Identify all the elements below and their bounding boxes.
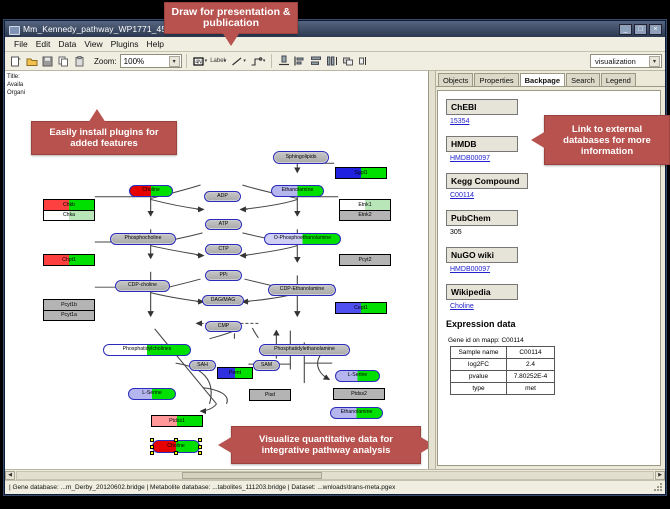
svg-text:4N: 4N bbox=[195, 59, 202, 65]
gene-label: Pisd bbox=[250, 390, 290, 400]
metabolite-label: O-Phosphoethanolamine bbox=[274, 236, 331, 241]
hscroll-track[interactable] bbox=[16, 471, 654, 480]
metabolite-node[interactable]: Ethanolamine bbox=[271, 185, 324, 197]
tab-backpage[interactable]: Backpage bbox=[520, 73, 565, 86]
gene-label: Pcyt1a bbox=[44, 311, 94, 321]
expression-data-heading: Expression data bbox=[446, 319, 660, 329]
callout-visualize-text: Visualize quantitative data for integrat… bbox=[238, 434, 414, 456]
metabolite-label: Ethanolamine bbox=[282, 188, 314, 193]
scroll-left-icon[interactable]: ◀ bbox=[5, 471, 15, 480]
wikipedia-link[interactable]: Choline bbox=[450, 303, 474, 310]
nugo-link[interactable]: HMDB00097 bbox=[450, 266, 490, 273]
metabolite-node[interactable]: CTP bbox=[205, 244, 242, 255]
gene-label: Ptdss2 bbox=[334, 389, 384, 399]
callout-plugins: Easily install plugins for added feature… bbox=[31, 121, 177, 155]
backpage-heading-nugo: NuGO wiki bbox=[446, 247, 518, 263]
expression-data-table: Sample name C00114 log2FC 2.4 pvalue 7.8… bbox=[450, 346, 555, 395]
canvas-vertical-scrollbar[interactable] bbox=[429, 71, 436, 469]
metabolite-node[interactable]: ADP bbox=[204, 191, 241, 202]
metabolite-node[interactable]: SAM bbox=[253, 360, 280, 371]
gene-product-node[interactable]: Chpt1 bbox=[43, 254, 95, 266]
chebi-link[interactable]: 15354 bbox=[450, 118, 469, 125]
zoom-combobox[interactable]: 100% ▾ bbox=[120, 54, 182, 68]
backpage-heading-pubchem: PubChem bbox=[446, 210, 518, 226]
expr-val-type: met bbox=[507, 383, 555, 395]
gene-product-node[interactable]: ChkbChka bbox=[43, 199, 95, 221]
gene-product-node[interactable]: Pcyt2 bbox=[339, 254, 391, 266]
callout-plugins-text: Easily install plugins for added feature… bbox=[38, 127, 170, 149]
metabolite-node[interactable]: L-Serine bbox=[335, 370, 380, 382]
expr-key-type: type bbox=[451, 383, 507, 395]
kegg-link[interactable]: C00114 bbox=[450, 192, 474, 199]
callout-arrow-down-icon bbox=[222, 32, 240, 46]
metabolite-label: Phosphocholine bbox=[125, 236, 162, 241]
close-button[interactable]: × bbox=[649, 24, 662, 35]
metabolite-label: L-Serine bbox=[348, 373, 368, 378]
menu-file[interactable]: File bbox=[10, 39, 32, 49]
metabolite-label: Sphingolipids bbox=[286, 155, 317, 160]
backpage-heading-hmdb: HMDB bbox=[446, 136, 518, 152]
metabolite-label: CDP-choline bbox=[128, 283, 157, 288]
gene-label: Sgpl1 bbox=[336, 168, 386, 178]
selection-handle[interactable] bbox=[150, 451, 154, 455]
gene-label: Pcyt2 bbox=[340, 255, 390, 265]
expr-key-log2fc: log2FC bbox=[451, 359, 507, 371]
metabolite-node[interactable]: CDP-Ethanolamine bbox=[268, 284, 336, 296]
metabolite-node[interactable]: L-Serine bbox=[128, 388, 176, 400]
gene-id-on-mapp-label: Gene id on mapp: C00114 bbox=[448, 337, 660, 344]
toolbar: Zoom: 100% ▾ 4N ▾ Label ▾ ▾ ▾ bbox=[5, 52, 665, 71]
gene-label: Pcyt1b bbox=[44, 300, 94, 310]
metabolite-node[interactable]: ATP bbox=[205, 219, 242, 230]
selection-handle[interactable] bbox=[150, 445, 154, 449]
visualization-combobox[interactable]: visualization ▾ bbox=[590, 54, 662, 68]
gene-label: Etnk1 bbox=[340, 200, 390, 210]
table-row: type met bbox=[451, 383, 555, 395]
table-row: log2FC 2.4 bbox=[451, 359, 555, 371]
gene-product-node[interactable]: Ptdss2 bbox=[333, 388, 385, 400]
label-icon[interactable]: Label bbox=[210, 58, 225, 64]
metabolite-label: Choline bbox=[167, 444, 185, 449]
callout-draw: Draw for presentation & publication bbox=[164, 2, 298, 34]
backpage-heading-chebi: ChEBI bbox=[446, 99, 518, 115]
chevron-down-icon[interactable]: ▾ bbox=[169, 56, 180, 67]
metabolite-label: Ethanolamine bbox=[341, 410, 373, 415]
gene-product-node[interactable]: Etnk1Etnk2 bbox=[339, 199, 391, 221]
metabolite-label: ATP bbox=[219, 222, 229, 227]
new-file-icon[interactable] bbox=[8, 54, 23, 69]
metabolite-label: PPi bbox=[219, 273, 227, 278]
metabolite-label: ADP bbox=[217, 194, 228, 199]
backpage-heading-kegg: Kegg Compound bbox=[446, 173, 528, 189]
metabolite-node[interactable]: Choline bbox=[129, 185, 173, 197]
align-bottom-icon[interactable] bbox=[276, 54, 291, 69]
paste-icon[interactable] bbox=[72, 54, 87, 69]
backpage-heading-wikipedia: Wikipedia bbox=[446, 284, 518, 300]
table-row: pvalue 7.80252E-4 bbox=[451, 371, 555, 383]
pathvisio-app-icon bbox=[8, 24, 19, 35]
align-left-icon[interactable] bbox=[292, 54, 307, 69]
bring-to-front-icon[interactable] bbox=[340, 54, 355, 69]
callout-arrow-left-icon bbox=[218, 436, 233, 454]
metabolite-label: Phosphatidylethanolamine bbox=[274, 347, 335, 352]
callout-link-external: Link to external databases for more info… bbox=[544, 115, 670, 165]
gene-product-node[interactable]: Pisd bbox=[249, 389, 291, 401]
metabolite-node[interactable]: Sphingolipids bbox=[273, 151, 329, 164]
hmdb-link[interactable]: HMDB00097 bbox=[450, 155, 490, 162]
expr-val-sample-name: C00114 bbox=[507, 347, 555, 359]
statusbar-text: | Gene database: ...m_Derby_20120602.bri… bbox=[9, 484, 395, 491]
metabolite-node[interactable]: Phosphatidylethanolamine bbox=[259, 344, 350, 356]
menu-edit[interactable]: Edit bbox=[32, 39, 55, 49]
gene-label: Ptdss1 bbox=[152, 416, 202, 426]
gene-product-node[interactable]: Sgpl1 bbox=[335, 167, 387, 179]
zoom-label: Zoom: bbox=[94, 57, 117, 66]
metabolite-label: SAM bbox=[261, 363, 272, 368]
same-width-icon[interactable] bbox=[324, 54, 339, 69]
callout-draw-text: Draw for presentation & publication bbox=[171, 7, 291, 29]
menu-plugins[interactable]: Plugins bbox=[107, 39, 143, 49]
send-to-back-icon[interactable] bbox=[356, 54, 371, 69]
line-icon[interactable] bbox=[229, 54, 244, 69]
metabolite-label: CTP bbox=[218, 247, 228, 252]
metabolite-label: Choline bbox=[142, 188, 160, 193]
connector-icon[interactable] bbox=[249, 54, 264, 69]
resize-grip-icon[interactable] bbox=[654, 483, 663, 492]
maximize-button[interactable]: □ bbox=[634, 24, 647, 35]
selection-handle[interactable] bbox=[198, 445, 202, 449]
window-controls[interactable]: _ □ × bbox=[619, 24, 662, 35]
chevron-down-icon[interactable]: ▾ bbox=[224, 58, 227, 64]
gene-product-node[interactable]: Cept1 bbox=[335, 302, 387, 314]
metabolite-label: DAG/MAG bbox=[211, 298, 236, 303]
metabolite-node[interactable]: DAG/MAG bbox=[202, 295, 244, 306]
scroll-right-icon[interactable]: ▶ bbox=[655, 471, 665, 480]
chevron-down-icon[interactable]: ▾ bbox=[649, 56, 660, 67]
metabolite-label: CMP bbox=[218, 324, 230, 329]
canvas-horizontal-scrollbar[interactable]: ◀ ▶ bbox=[5, 469, 665, 480]
expr-val-pvalue: 7.80252E-4 bbox=[507, 371, 555, 383]
callout-arrow-right-icon bbox=[419, 436, 429, 454]
tab-properties[interactable]: Properties bbox=[474, 73, 518, 86]
metabolite-label: CDP-Ethanolamine bbox=[280, 287, 324, 292]
menu-view[interactable]: View bbox=[80, 39, 106, 49]
expr-key-sample-name: Sample name bbox=[451, 347, 507, 359]
expr-val-log2fc: 2.4 bbox=[507, 359, 555, 371]
gene-label: Pemt bbox=[218, 368, 252, 378]
side-panel-tabs: Objects Properties Backpage Search Legen… bbox=[429, 71, 665, 87]
selection-handle[interactable] bbox=[150, 438, 154, 442]
selection-handle[interactable] bbox=[198, 438, 202, 442]
selection-handle[interactable] bbox=[174, 451, 178, 455]
visualization-value: visualization bbox=[595, 57, 636, 66]
gene-product-node[interactable]: Pemt bbox=[217, 367, 253, 379]
table-row: Sample name C00114 bbox=[451, 347, 555, 359]
tab-objects[interactable]: Objects bbox=[438, 73, 473, 86]
metabolite-node[interactable]: Phosphocholine bbox=[110, 233, 176, 245]
metabolite-node[interactable]: CDP-choline bbox=[115, 280, 170, 292]
selection-handle[interactable] bbox=[198, 451, 202, 455]
metabolite-label: SAH bbox=[197, 363, 208, 368]
open-folder-icon[interactable] bbox=[24, 54, 39, 69]
pubchem-value: 305 bbox=[450, 229, 660, 236]
callout-visualize: Visualize quantitative data for integrat… bbox=[231, 426, 421, 464]
gene-label: Chkb bbox=[44, 200, 94, 210]
menu-help[interactable]: Help bbox=[143, 39, 168, 49]
menu-data[interactable]: Data bbox=[54, 39, 80, 49]
metabolite-label: Phosphatidylcholines bbox=[123, 347, 172, 352]
datanode-icon[interactable]: 4N bbox=[191, 54, 206, 69]
metabolite-node[interactable]: SAH bbox=[189, 360, 216, 371]
gene-label: Cept1 bbox=[336, 303, 386, 313]
gene-label: Etnk2 bbox=[340, 211, 390, 221]
metabolite-node[interactable]: Ethanolamine bbox=[330, 407, 383, 419]
pathvisio-window: Mm_Kennedy_pathway_WP1771_45176.gpml _ □… bbox=[4, 20, 666, 495]
gene-label: Chka bbox=[44, 211, 94, 221]
gene-label: Chpt1 bbox=[44, 255, 94, 265]
pathway-canvas-pane[interactable]: Title: Availa Organi bbox=[5, 71, 429, 469]
gene-product-node[interactable]: Ptdss1 bbox=[151, 415, 203, 427]
menubar: File Edit Data View Plugins Help bbox=[5, 37, 665, 52]
metabolite-node[interactable]: CMP bbox=[205, 321, 242, 332]
toolbar-separator bbox=[271, 54, 272, 68]
metabolite-node[interactable]: O-Phosphoethanolamine bbox=[264, 233, 341, 245]
hscroll-thumb[interactable] bbox=[182, 472, 322, 479]
minimize-button[interactable]: _ bbox=[619, 24, 632, 35]
tab-legend[interactable]: Legend bbox=[601, 73, 636, 86]
callout-link-text: Link to external databases for more info… bbox=[551, 124, 663, 157]
metabolite-node[interactable]: PPi bbox=[205, 270, 242, 281]
toolbar-separator bbox=[186, 54, 187, 68]
metabolite-label: L-Serine bbox=[142, 391, 162, 396]
callout-arrow-up-icon bbox=[88, 109, 106, 123]
window-titlebar: Mm_Kennedy_pathway_WP1771_45176.gpml _ □… bbox=[5, 21, 665, 37]
copy-icon[interactable] bbox=[56, 54, 71, 69]
statusbar: | Gene database: ...m_Derby_20120602.bri… bbox=[5, 480, 665, 494]
tab-search[interactable]: Search bbox=[566, 73, 600, 86]
expr-key-pvalue: pvalue bbox=[451, 371, 507, 383]
save-icon[interactable] bbox=[40, 54, 55, 69]
zoom-value: 100% bbox=[124, 57, 144, 66]
metabolite-node[interactable]: Phosphatidylcholines bbox=[103, 344, 191, 356]
callout-arrow-left-icon bbox=[531, 131, 546, 149]
gene-product-node[interactable]: Pcyt1bPcyt1a bbox=[43, 299, 95, 321]
distribute-vertical-icon[interactable] bbox=[308, 54, 323, 69]
selection-handle[interactable] bbox=[174, 438, 178, 442]
